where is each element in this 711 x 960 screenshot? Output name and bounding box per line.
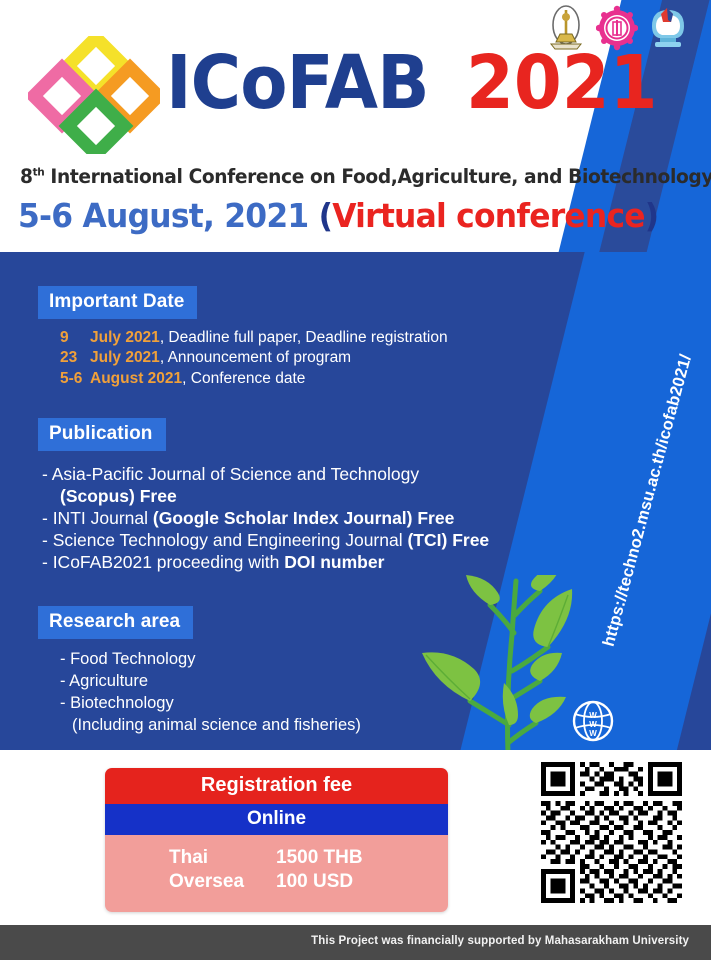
research-area-section: Research area - Food Technology - Agricu…: [38, 606, 361, 737]
registration-mode: Online: [105, 804, 448, 835]
publication-item-text: - INTI Journal: [42, 508, 153, 528]
conference-host-logo: [647, 4, 689, 52]
registration-fee-heading: Registration fee: [105, 768, 448, 804]
research-area-heading: Research area: [38, 606, 193, 639]
publication-item-bold: (Scopus) Free: [60, 486, 177, 506]
dateline-dates: 5-6 August, 2021: [18, 196, 319, 235]
date-month: July 2021: [90, 349, 160, 366]
dateline-virtual: Virtual conference: [332, 196, 645, 235]
publication-item-bold: DOI number: [284, 552, 384, 572]
important-date-heading: Important Date: [38, 286, 197, 319]
svg-text:W: W: [589, 729, 597, 738]
conference-website-url[interactable]: https://techno2.msu.ac.th/icofab2021/: [588, 280, 708, 720]
publication-item: - INTI Journal (Google Scholar Index Jou…: [42, 507, 489, 529]
fee-value: 100 USD: [276, 870, 353, 894]
publication-item-text: - Science Technology and Engineering Jou…: [42, 530, 407, 550]
date-entry: 5-6August 2021, Conference date: [38, 369, 448, 389]
subtitle-ordinal: 8: [20, 165, 33, 188]
conference-poster: ICoFAB 2021 8th International Conference…: [0, 0, 711, 960]
date-month: July 2021: [90, 329, 160, 346]
date-desc: , Deadline full paper, Deadline registra…: [160, 329, 448, 346]
organizer-logos: [545, 4, 689, 52]
date-day: 23: [60, 348, 90, 368]
fee-value: 1500 THB: [276, 846, 363, 870]
research-area-list: - Food Technology - Agriculture - Biotec…: [38, 649, 361, 737]
date-desc: , Conference date: [182, 370, 305, 387]
icofab-diamonds-logo: [28, 36, 160, 154]
registration-qr-code[interactable]: [541, 762, 682, 903]
publication-item: - Asia-Pacific Journal of Science and Te…: [42, 463, 489, 485]
svg-text:W: W: [589, 720, 597, 729]
fee-label: Thai: [169, 846, 276, 870]
table-row: Oversea 100 USD: [105, 870, 448, 894]
table-row: Thai 1500 THB: [105, 846, 448, 870]
registration-fee-table: Registration fee Online Thai 1500 THB Ov…: [105, 768, 448, 912]
research-area-item: - Food Technology: [60, 649, 361, 671]
important-date-section: Important Date 9July 2021, Deadline full…: [38, 286, 448, 389]
research-area-item: - Agriculture: [60, 671, 361, 693]
date-entry: 23July 2021, Announcement of program: [38, 348, 448, 368]
publication-item: - ICoFAB2021 proceeding with DOI number: [42, 551, 489, 573]
important-date-list: 9July 2021, Deadline full paper, Deadlin…: [38, 328, 448, 389]
registration-fee-body: Thai 1500 THB Oversea 100 USD: [105, 835, 448, 912]
publication-heading: Publication: [38, 418, 166, 451]
research-area-note: (Including animal science and fisheries): [60, 715, 361, 737]
svg-text:W: W: [589, 711, 597, 720]
publication-section: Publication - Asia-Pacific Journal of Sc…: [38, 418, 489, 573]
title-year: 2021: [466, 46, 658, 120]
publication-item-text: - ICoFAB2021 proceeding with: [42, 552, 284, 572]
date-month: August 2021: [90, 370, 182, 387]
date-desc: , Announcement of program: [160, 349, 351, 366]
faculty-technology-gear-logo: [596, 4, 638, 52]
fee-label: Oversea: [169, 870, 276, 894]
title-icofab: ICoFAB: [166, 46, 429, 120]
date-day: 5-6: [60, 369, 90, 389]
subtitle-ordinal-suffix: th: [33, 166, 45, 179]
poster-title: ICoFAB 2021: [166, 46, 672, 120]
www-globe-icon: W W W: [570, 698, 616, 744]
dateline-paren-open: (: [319, 196, 333, 235]
conference-website-url-text: https://techno2.msu.ac.th/icofab2021/: [600, 352, 696, 648]
publication-item: (Scopus) Free: [42, 485, 489, 507]
poster-header: ICoFAB 2021 8th International Conference…: [0, 0, 711, 252]
conference-dateline: 5-6 August, 2021 (Virtual conference): [18, 196, 658, 235]
publication-item-text: - Asia-Pacific Journal of Science and Te…: [42, 464, 419, 484]
footer-credit-text: This Project was financially supported b…: [311, 935, 689, 947]
publication-item-bold: (Google Scholar Index Journal) Free: [153, 508, 454, 528]
subtitle-text: International Conference on Food,Agricul…: [44, 165, 711, 188]
dateline-paren-close: ): [645, 196, 659, 235]
conference-subtitle: 8th International Conference on Food,Agr…: [20, 165, 711, 188]
publication-item-bold: (TCI) Free: [407, 530, 489, 550]
publication-item: - Science Technology and Engineering Jou…: [42, 529, 489, 551]
publication-list: - Asia-Pacific Journal of Science and Te…: [38, 463, 489, 573]
date-entry: 9July 2021, Deadline full paper, Deadlin…: [38, 328, 448, 348]
mahasarakham-university-logo: [545, 4, 587, 52]
date-day: 9: [60, 328, 90, 348]
research-area-item: - Biotechnology: [60, 693, 361, 715]
